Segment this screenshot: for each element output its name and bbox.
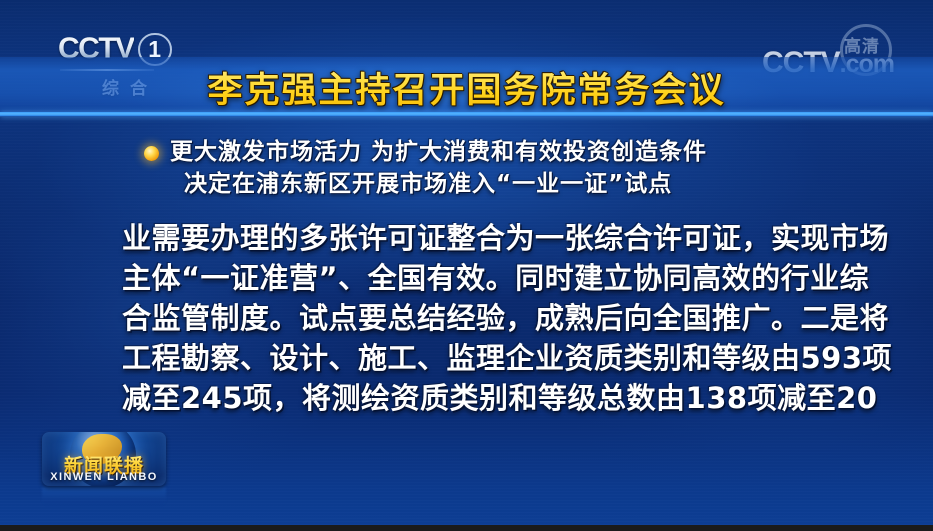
program-bug-xinwen-lianbo: 新闻联播 XINWEN LIANBO (42, 432, 166, 486)
subheadline-block: 更大激发市场活力 为扩大消费和有效投资创造条件 决定在浦东新区开展市场准入“一业… (134, 136, 814, 200)
broadcast-frame: CCTV 1 综合 高清 CCTV.com 李克强主持召开国务院常务会议 更大激… (0, 0, 933, 531)
body-line: 主体“一证准营”、全国有效。同时建立协同高效的行业综 (122, 258, 822, 298)
body-line: 合监管制度。试点要总结经验，成熟后向全国推广。二是将 (122, 298, 822, 338)
body-line: 业需要办理的多张许可证整合为一张综合许可证，实现市场 (122, 218, 822, 258)
program-bug-pinyin: XINWEN LIANBO (42, 471, 166, 483)
letterbox-bottom-bar (0, 525, 933, 531)
program-bug-reflection (42, 487, 166, 507)
bullet-dot-icon (144, 146, 159, 161)
subheadline-line-1: 更大激发市场活力 为扩大消费和有效投资创造条件 (170, 136, 814, 168)
headline-underline (0, 112, 933, 117)
subheadline-line-2: 决定在浦东新区开展市场准入“一业一证”试点 (170, 168, 814, 200)
headline-text: 李克强主持召开国务院常务会议 (0, 62, 933, 113)
body-line: 减至245项，将测绘资质类别和等级总数由138项减至20 (122, 378, 822, 418)
subheadline-lines: 更大激发市场活力 为扩大消费和有效投资创造条件 决定在浦东新区开展市场准入“一业… (170, 136, 814, 200)
body-line: 工程勘察、设计、施工、监理企业资质类别和等级由593项 (122, 338, 822, 378)
body-text-block: 业需要办理的多张许可证整合为一张综合许可证，实现市场 主体“一证准营”、全国有效… (122, 218, 822, 418)
